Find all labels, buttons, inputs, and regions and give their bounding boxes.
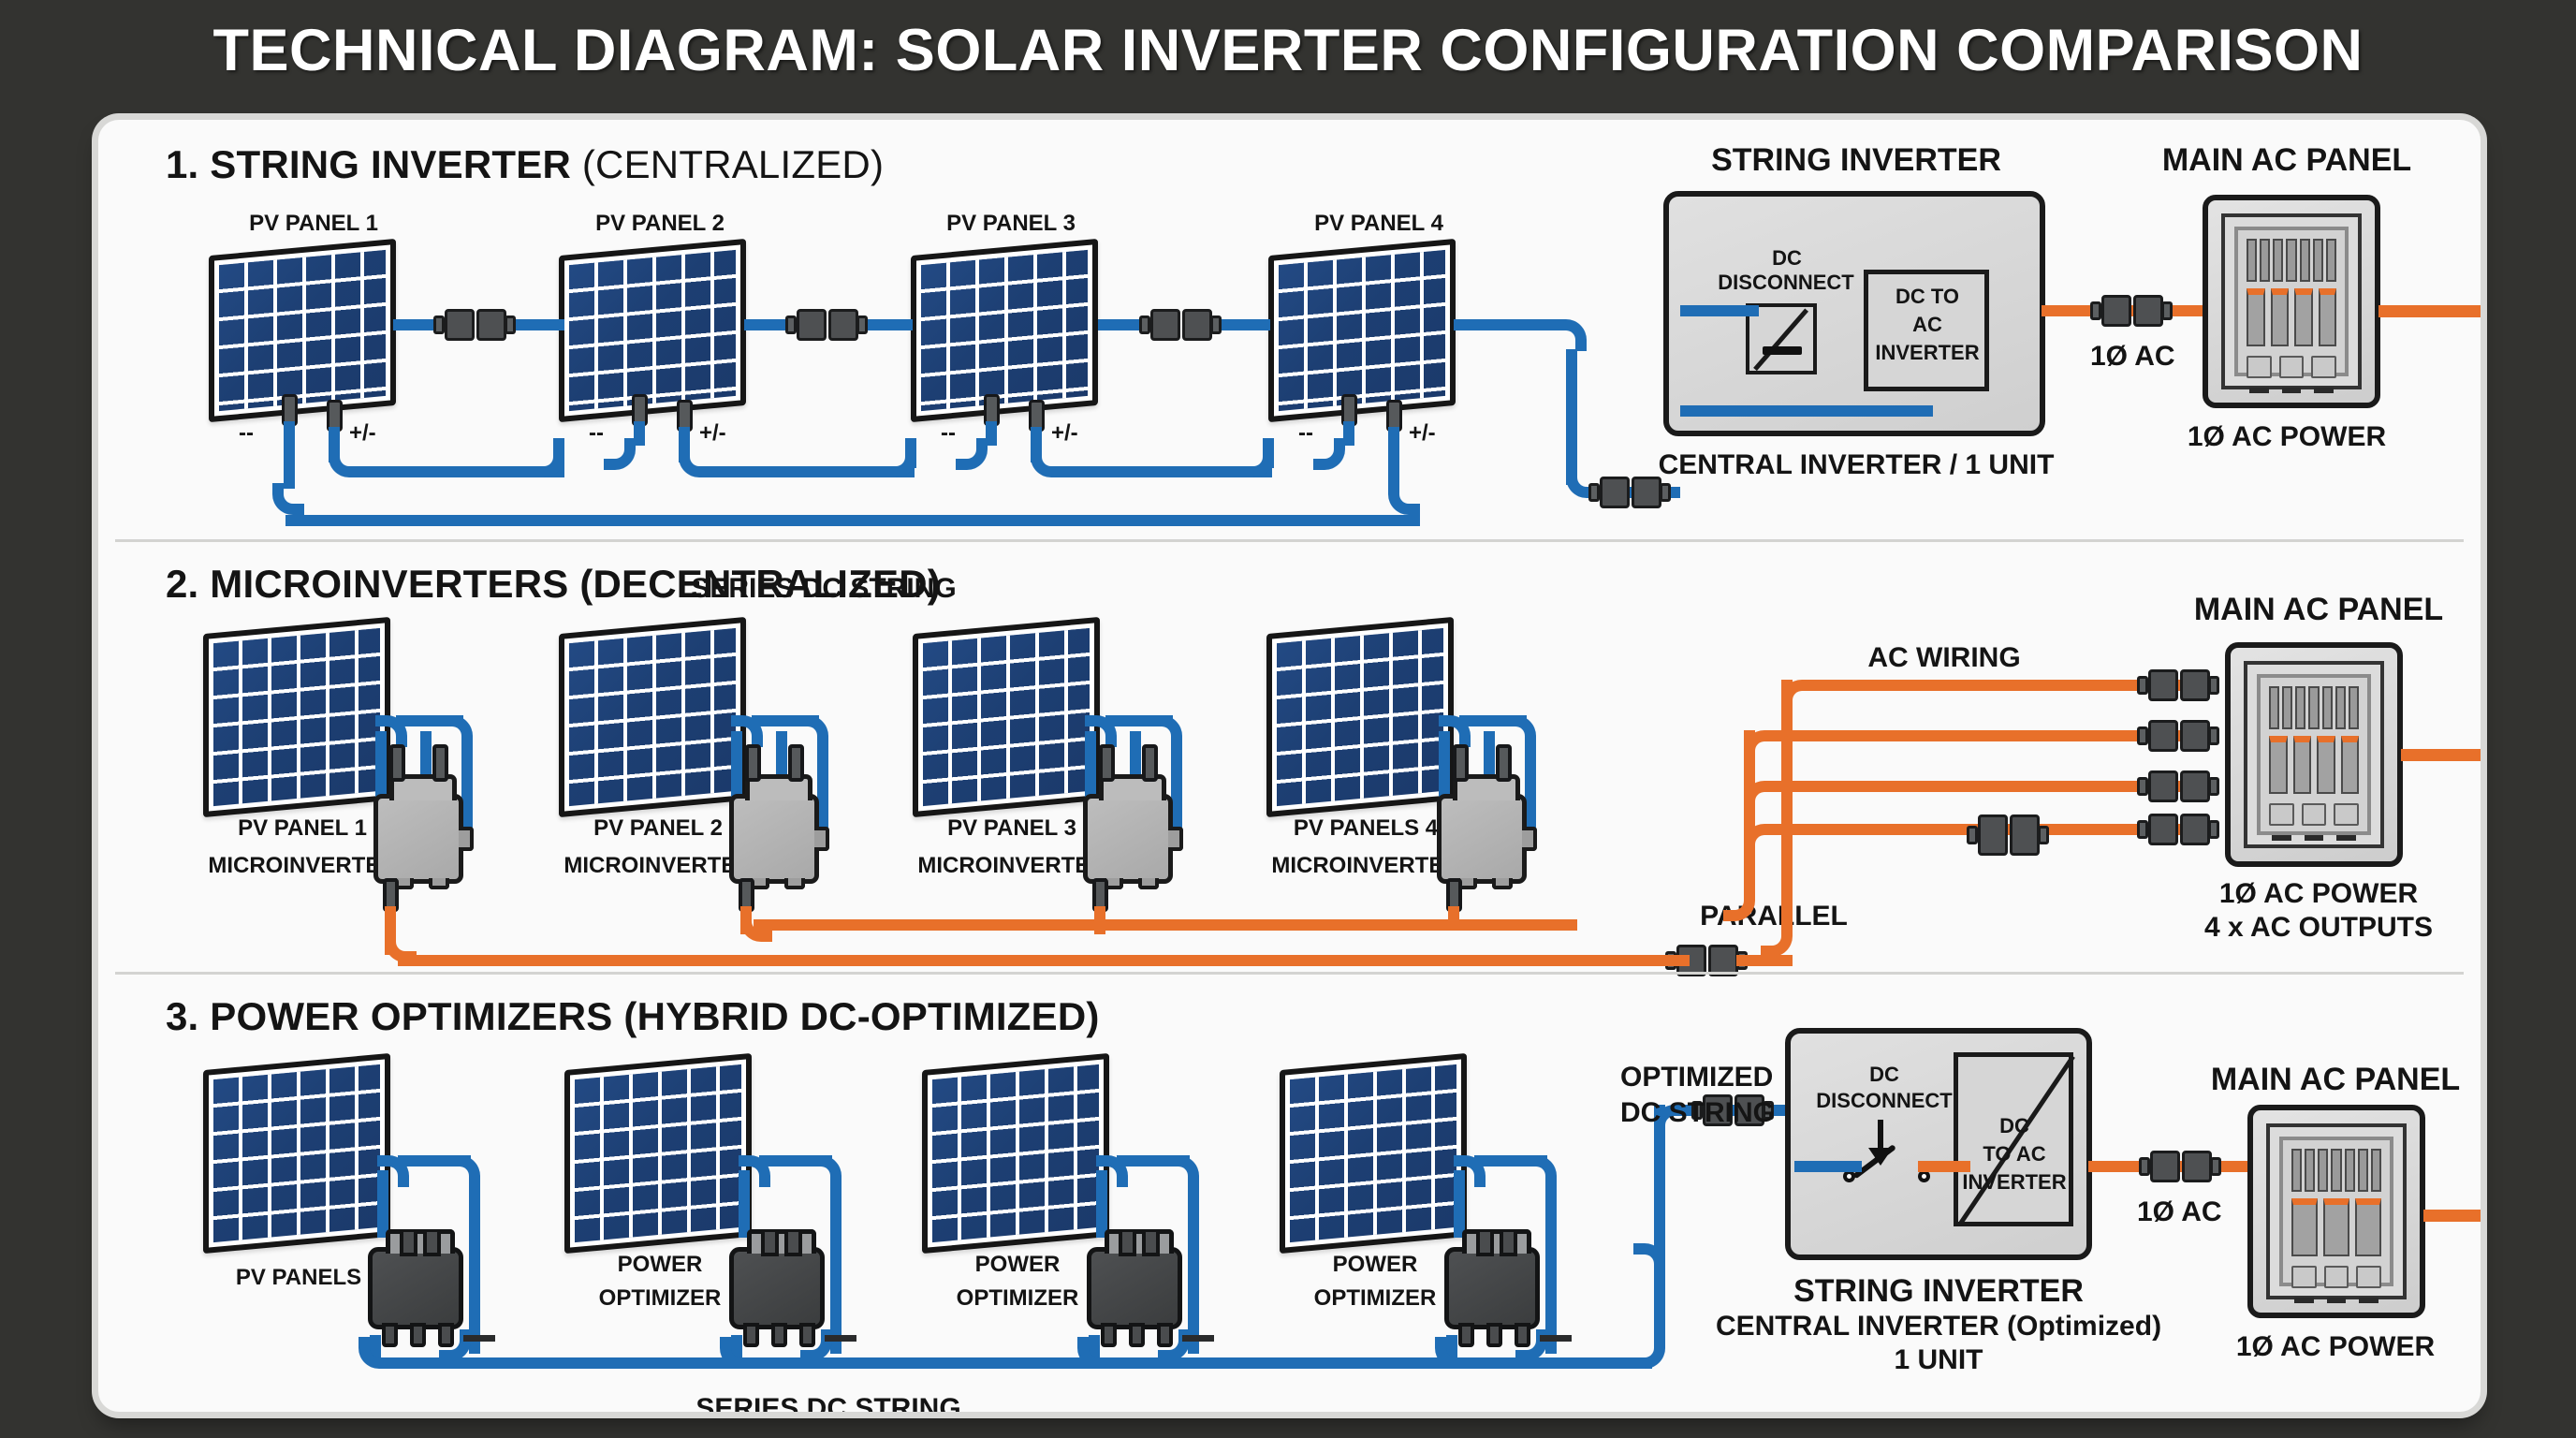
ac-tag-label-1: 1Ø AC [2090, 341, 2175, 373]
optimized-dc-string-label-1: OPTIMIZED [1620, 1062, 1773, 1093]
power-optimizer-2 [729, 1247, 825, 1329]
pv-4-neg-label: -- [1298, 421, 1313, 447]
section-power-optimizers: 3. POWER OPTIMIZERS (HYBRID DC-OPTIMIZED… [98, 972, 2481, 1412]
section-microinverters: 2. MICROINVERTERS (DECENTRALIZED) PV PAN… [98, 539, 2481, 972]
dc-to-ac-line3: INVERTER [1868, 342, 1986, 365]
opt-3-sub: OPTIMIZER [957, 1286, 1079, 1312]
opt-1-lead [463, 1335, 495, 1342]
grid-wire-2 [2401, 749, 2481, 761]
pv-panel-1 [209, 239, 396, 422]
ac-tag-label-3: 1Ø AC [2137, 1196, 2222, 1228]
pv-2-neg-corner [604, 438, 636, 470]
opt-4-sub: OPTIMIZER [1314, 1286, 1437, 1312]
pv-1-pos-up [553, 438, 564, 468]
ac-riser-1 [1781, 680, 1793, 932]
pv-panel-1-label: PV PANEL 1 [249, 212, 378, 237]
opt-2-label: POWER [618, 1253, 703, 1278]
mc4-connector-3 [1150, 309, 1212, 341]
pv-4-pos-corner [1388, 483, 1420, 515]
ac-breakers-top-3 [2291, 1149, 2381, 1192]
optimized-inverter-box: DC DISCONNECT DC TO AC INVERTER [1785, 1028, 2092, 1260]
mc4-panel-in-1 [2148, 669, 2210, 701]
disconnect-diagonal-icon [1753, 308, 1808, 371]
pv-3-neg-corner [956, 438, 988, 470]
grid-wire-3 [2423, 1210, 2481, 1222]
opt-inverter-caption-3: 1 UNIT [1894, 1344, 1983, 1376]
main-ac-panel-2 [2225, 642, 2403, 867]
pv-3-pos-run [1051, 466, 1272, 477]
opt-dc-disconnect-line1: DC [1800, 1064, 1969, 1087]
grid-wire-1 [2378, 305, 2481, 317]
micro-pv-panel-3 [913, 617, 1100, 817]
ac-power-caption-2b: 4 x AC OUTPUTS [2204, 912, 2433, 944]
dc-to-ac-line2: AC [1868, 314, 1986, 337]
opt-pv-panel-4 [1280, 1053, 1467, 1254]
opt-inv-dc-in-line [1794, 1161, 1862, 1172]
pv-panel-3 [911, 239, 1098, 422]
ac-bus-lower [398, 955, 1615, 966]
mc4-connector-1 [445, 309, 506, 341]
mc4-connector-2 [797, 309, 858, 341]
ac-wiring-label: AC WIRING [1867, 642, 2020, 674]
opt-2-dc-right [830, 1176, 842, 1354]
string-inverter-heading: STRING INVERTER [1711, 142, 2001, 178]
opt-pv-panel-2 [564, 1053, 752, 1254]
power-optimizer-1 [368, 1247, 463, 1329]
opt-dc-to-ac-line1: DC [1958, 1115, 2071, 1138]
series-dc-string-label-3: SERIES DC STRING [695, 1393, 960, 1412]
opt-3-dc-right [1188, 1176, 1199, 1354]
main-ac-panel-heading-3: MAIN AC PANEL [2211, 1062, 2460, 1097]
opt-3-lead [1182, 1335, 1214, 1342]
micro-pv-4-sub: MICROINVERTER [1271, 854, 1459, 879]
section-3-title-bold: 3. POWER OPTIMIZERS (HYBRID DC-OPTIMIZED… [166, 994, 1100, 1038]
pv-1-pos-label: +/- [349, 421, 376, 447]
pv-panel-4-label: PV PANEL 4 [1314, 212, 1443, 237]
section-2-title-bold: 2. MICROINVERTERS (DECENTRALIZED) [166, 562, 941, 606]
micro-pv-panel-4 [1266, 617, 1454, 817]
pv-2-pos-up [905, 438, 916, 468]
ac-breakers-top-2 [2269, 686, 2359, 729]
opt-4-lead [1540, 1335, 1572, 1342]
pv-panel-4 [1268, 239, 1456, 422]
optimized-dc-string-label-2: DC STRING [1620, 1097, 1775, 1129]
opt-inverter-caption-2: CENTRAL INVERTER (Optimized) [1716, 1311, 2161, 1343]
opt-2-sub: OPTIMIZER [599, 1286, 722, 1312]
opt-dc-to-ac-line3: INVERTER [1958, 1171, 2071, 1195]
dc-run-down [1566, 349, 1577, 485]
dc-corner-tr [1555, 319, 1587, 351]
inverter-internal-dc-top [1680, 305, 1759, 316]
pv-4-pos-label: +/- [1409, 421, 1436, 447]
micro-pv-3-label: PV PANEL 3 [947, 816, 1076, 842]
micro-pv-panel-2 [559, 617, 746, 817]
disconnect-bar-icon [1763, 346, 1802, 355]
opt-inverter-caption-1: STRING INVERTER [1793, 1273, 2084, 1309]
pv-panel-3-label: PV PANEL 3 [946, 212, 1076, 237]
opt-inv-ac-line [1918, 1161, 1970, 1172]
opt-dc-disconnect-line2: DISCONNECT [1791, 1090, 1978, 1113]
series-bus-corner-left [272, 483, 304, 515]
diagram-root: TECHNICAL DIAGRAM: SOLAR INVERTER CONFIG… [0, 0, 2576, 1438]
micro-pv-3-sub: MICROINVERTER [917, 854, 1105, 879]
microinverter-1 [373, 794, 463, 884]
microinverter-4 [1437, 794, 1527, 884]
opt-4-label: POWER [1333, 1253, 1418, 1278]
opt-bus-riser [1654, 1105, 1665, 1348]
section-3-title: 3. POWER OPTIMIZERS (HYBRID DC-OPTIMIZED… [166, 994, 1100, 1039]
pv-panel-2-label: PV PANEL 2 [595, 212, 724, 237]
dc-disconnect-label-line1: DC [1703, 247, 1871, 271]
opt-3-label: POWER [975, 1253, 1061, 1278]
dc-disconnect-label-line2: DISCONNECT [1682, 271, 1890, 295]
ac-blocks-bottom-1 [2247, 356, 2336, 378]
opt-2-lead [825, 1335, 856, 1342]
pv-2-neg-label: -- [589, 421, 604, 447]
pv-1-neg-label: -- [239, 421, 254, 447]
mc4-ac-connector-1 [2101, 295, 2163, 327]
pv-3-neg-label: -- [941, 421, 956, 447]
micro-pv-2-label: PV PANEL 2 [593, 816, 723, 842]
micro-pv-1-label: PV PANEL 1 [238, 816, 367, 842]
section-1-title-light: (CENTRALIZED) [582, 142, 884, 186]
pv-panel-2 [559, 239, 746, 422]
ac-lines-bottom-1 [2249, 388, 2334, 393]
ac-blocks-bottom-3 [2291, 1266, 2381, 1288]
micro-pv-2-sub: MICROINVERTER [563, 854, 752, 879]
opt-dc-to-ac-line2: TO AC [1958, 1143, 2071, 1167]
main-ac-panel-1 [2203, 195, 2380, 408]
dc-run-top [1454, 319, 1566, 330]
mc4-panel-in-3 [2148, 770, 2210, 802]
power-optimizer-4 [1444, 1247, 1540, 1329]
opt-dc-to-ac-box: DC TO AC INVERTER [1954, 1052, 2073, 1226]
opt-series-bus [379, 1357, 1652, 1369]
ac-power-caption-2a: 1Ø AC POWER [2219, 878, 2418, 910]
pv-2-pos-run [699, 466, 915, 477]
opt-pv-panel-3 [922, 1053, 1109, 1254]
opt-pv-label: PV PANELS [236, 1266, 361, 1291]
main-ac-panel-heading-1: MAIN AC PANEL [2162, 142, 2411, 178]
main-ac-panel-heading-2: MAIN AC PANEL [2194, 592, 2443, 627]
inverter-diagonal-icon [1958, 1055, 2075, 1225]
page-title: TECHNICAL DIAGRAM: SOLAR INVERTER CONFIG… [0, 17, 2576, 84]
pv-4-pos-drop [1388, 427, 1399, 487]
section-string-inverter: 1. STRING INVERTER (CENTRALIZED) PV PANE… [98, 120, 2481, 539]
micro-pv-1-sub: MICROINVERTER [208, 854, 396, 879]
opt-4-dc-right [1545, 1176, 1557, 1354]
pv-3-pos-label: +/- [1051, 421, 1078, 447]
ac-breakers-mid-2 [2269, 736, 2359, 794]
section-1-title: 1. STRING INVERTER (CENTRALIZED) [166, 142, 884, 187]
ac-breakers-mid-1 [2247, 288, 2336, 346]
section-2-title: 2. MICROINVERTERS (DECENTRALIZED) [166, 562, 941, 607]
mc4-ac-feed-4 [1978, 814, 2040, 856]
microinverter-3 [1083, 794, 1173, 884]
inverter-internal-dc [1680, 405, 1933, 417]
main-ac-panel-3 [2247, 1105, 2425, 1318]
section-1-title-bold: 1. STRING INVERTER [166, 142, 571, 186]
ac-bus-upper [754, 919, 1577, 931]
central-inverter-caption: CENTRAL INVERTER / 1 UNIT [1659, 449, 2055, 481]
micro-pv-4-label: PV PANELS 4 [1294, 816, 1438, 842]
ac-power-caption-3: 1Ø AC POWER [2236, 1331, 2435, 1363]
pv-3-pos-up [1263, 438, 1274, 468]
micro-pv-panel-1 [203, 617, 390, 817]
microinverter-2 [729, 794, 819, 884]
opt-1-dc-right [469, 1176, 480, 1354]
ac-blocks-bottom-2 [2269, 803, 2359, 826]
mc4-connector-inverter-in [1600, 477, 1661, 508]
dc-to-ac-line1: DC TO [1868, 286, 1986, 309]
series-dc-bus [285, 515, 1420, 526]
pv-4-neg-corner [1313, 438, 1345, 470]
power-optimizer-3 [1087, 1247, 1182, 1329]
ac-power-caption-1: 1Ø AC POWER [2188, 421, 2386, 453]
ac-lines-bottom-3 [2294, 1298, 2378, 1303]
ac-breakers-top-1 [2247, 239, 2336, 282]
ac-lines-bottom-2 [2272, 835, 2356, 841]
mc4-ac-connector-3 [2150, 1151, 2212, 1182]
disconnect-arrow-shaft-icon [1878, 1120, 1883, 1150]
pv-1-neg-drop [284, 421, 295, 489]
parallel-wire-left [1615, 955, 1690, 966]
pv-2-pos-label: +/- [699, 421, 726, 447]
ac-breakers-mid-3 [2291, 1198, 2381, 1256]
mc4-panel-in-4 [2148, 814, 2210, 845]
mc4-panel-in-2 [2148, 720, 2210, 752]
diagram-card: 1. STRING INVERTER (CENTRALIZED) PV PANE… [98, 120, 2481, 1412]
opt-pv-panel-1 [203, 1053, 390, 1254]
dc-to-ac-inverter-box: DC TO AC INVERTER [1864, 270, 1989, 391]
